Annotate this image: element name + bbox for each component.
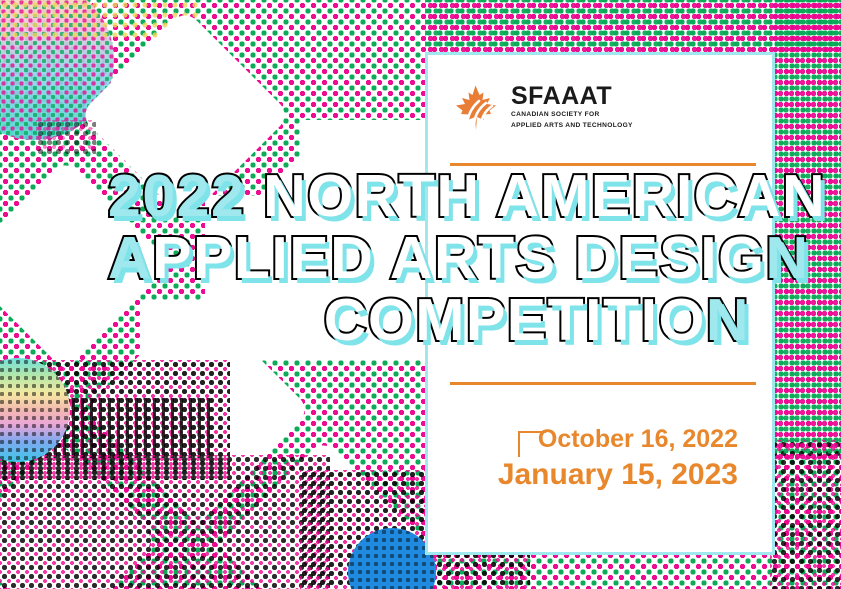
headline-clear-zone-3 — [140, 300, 440, 360]
logo-text-block: SFAAAT CANADIAN SOCIETY FOR APPLIED ARTS… — [511, 84, 633, 130]
maple-leaf-icon — [450, 83, 502, 131]
halftone-patch-dark-mid — [36, 120, 96, 154]
halftone-patch-dark-bottom — [0, 455, 330, 589]
halftone-patch-dark-right-edge — [770, 440, 841, 589]
bracket-marker-icon — [518, 431, 546, 457]
date-range-block: October 16, 2022 January 15, 2023 — [450, 425, 756, 492]
start-date: October 16, 2022 — [450, 425, 756, 455]
sfaaat-logo: SFAAAT CANADIAN SOCIETY FOR APPLIED ARTS… — [450, 83, 633, 131]
divider-top — [450, 163, 756, 166]
halftone-right-strip — [775, 0, 841, 460]
info-card: SFAAAT CANADIAN SOCIETY FOR APPLIED ARTS… — [425, 52, 775, 555]
halftone-top-right — [425, 0, 841, 52]
end-date: January 15, 2023 — [450, 457, 756, 492]
poster-canvas: SFAAAT CANADIAN SOCIETY FOR APPLIED ARTS… — [0, 0, 841, 589]
logo-name: SFAAAT — [511, 84, 633, 109]
logo-tagline-line1: CANADIAN SOCIETY FOR — [511, 110, 633, 120]
divider-bottom — [450, 382, 756, 385]
info-card-inner: SFAAAT CANADIAN SOCIETY FOR APPLIED ARTS… — [428, 55, 772, 552]
logo-tagline-line2: APPLIED ARTS AND TECHNOLOGY — [511, 121, 633, 131]
